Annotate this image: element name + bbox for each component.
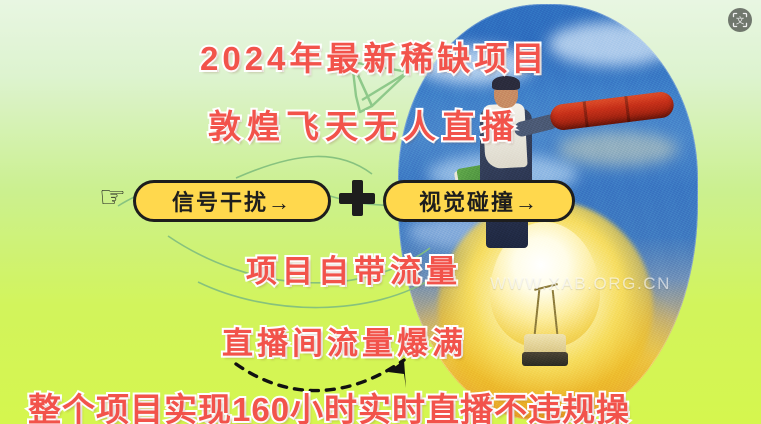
lightbulb-base bbox=[522, 352, 568, 366]
plus-icon bbox=[339, 180, 375, 216]
tag-visual-collision[interactable]: 视觉碰撞→ bbox=[383, 180, 575, 222]
poster-canvas: WWW.XAB.ORG.CN 2024年最新稀缺项目 敦煌飞天无人直播 ☞ 信号… bbox=[0, 0, 761, 424]
benefit-line-1: 项目自带流量 bbox=[246, 246, 462, 291]
svg-text:文: 文 bbox=[736, 16, 745, 26]
benefit-line-2: 直播间流量爆满 bbox=[222, 318, 467, 363]
headline-line-1: 2024年最新稀缺项目 bbox=[200, 32, 548, 80]
site-watermark: WWW.XAB.ORG.CN bbox=[490, 274, 671, 294]
footer-claim-line: 整个项目实现160小时实时直播不违规操 bbox=[28, 383, 630, 424]
cloud-shape bbox=[558, 132, 678, 166]
tag-signal-interference[interactable]: 信号干扰→ bbox=[133, 180, 331, 222]
pointing-hand-icon: ☞ bbox=[99, 180, 126, 216]
headline-line-2: 敦煌飞天无人直播 bbox=[208, 100, 520, 148]
lightbulb-neck bbox=[524, 334, 566, 356]
translate-image-button[interactable]: 文 bbox=[728, 8, 752, 32]
cloud-shape bbox=[548, 22, 678, 66]
translate-icon: 文 bbox=[732, 12, 748, 28]
telescope-icon bbox=[549, 91, 675, 132]
